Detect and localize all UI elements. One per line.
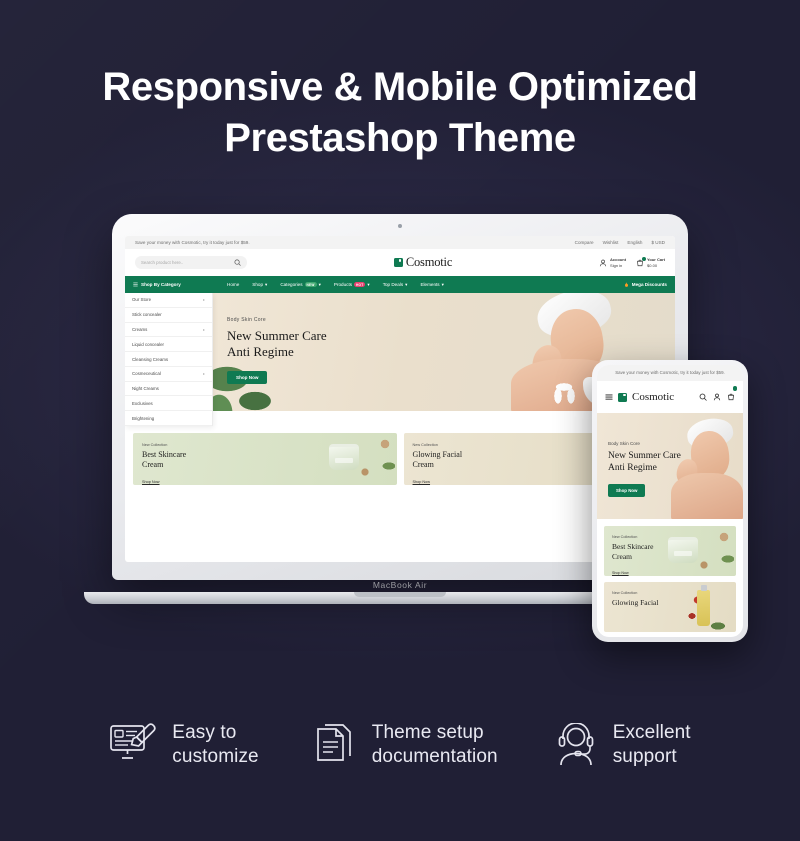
sidebar-item-label: Stick concealer [132,312,162,317]
cart-labels: Your Cart $0.00 [647,257,665,268]
sidebar-item-exclusives[interactable]: Exclusives [125,396,212,411]
headset-support-icon [554,723,598,767]
phone-header-icons [699,388,735,406]
phone-mockup: Save your money with Cosmotic, try it to… [592,360,748,642]
promo-title: Best Skincare Cream [612,542,653,561]
feature-label: Theme setup documentation [372,721,498,770]
logo-mark-icon [394,258,403,267]
cart-button[interactable]: Your Cart $0.00 [636,257,665,268]
chevron-right-icon: ▸ [203,327,205,332]
hero-text-block: Body Skin Core New Summer Care Anti Regi… [227,317,327,384]
feature-label: Easy to customize [172,721,258,770]
shop-by-category-button[interactable]: Shop By Category [133,282,221,287]
shop-by-category-label: Shop By Category [141,282,181,287]
nav-item-products[interactable]: Products HOT ▾ [334,282,370,288]
sidebar-item-label: Our Store [132,297,151,302]
chevron-down-icon: ▾ [319,282,321,288]
promo-title-line-2: Cream [612,552,632,561]
promo-decoration [688,588,734,632]
nav-label: Shop [252,282,263,287]
currency-selector[interactable]: $ USD [651,240,665,245]
phone-hero-title-line-1: New Summer Care [608,451,681,461]
feature-label-line-1: Excellent [613,721,691,745]
promo-text-block: New Collection Glowing Facial Cream Shop… [413,443,463,485]
nav-label: Top Deals [383,282,403,287]
hero-title-line-2: Anti Regime [227,344,294,359]
feature-label-line-1: Easy to [172,721,258,745]
sidebar-item-label: Night Creams [132,386,159,391]
phone-hero-kicker: Body Skin Core [608,441,681,446]
cream-jar-image [329,444,359,470]
language-selector[interactable]: English [627,240,642,245]
chevron-down-icon: ▾ [265,282,267,288]
sidebar-item-night-creams[interactable]: Night Creams [125,382,212,397]
sidebar-item-creams[interactable]: Creams ▸ [125,323,212,338]
sidebar-item-label: Exclusives [132,401,153,406]
sidebar-item-cleansing-creams[interactable]: Cleansing Creams [125,352,212,367]
search-icon[interactable] [234,259,241,266]
search-placeholder: Search product here.. [141,260,183,265]
account-subtitle: Sign in [610,263,622,268]
chevron-right-icon: ▸ [203,371,205,376]
category-sidebar: Our Store ▸ Stick concealer Creams ▸ Liq… [125,293,213,426]
cart-total: $0.00 [647,263,657,268]
sidebar-item-label: Cleansing Creams [132,357,168,362]
phone-hero-title: New Summer Care Anti Regime [608,451,681,475]
search-icon[interactable] [699,393,707,401]
phone-cart-badge [733,386,738,391]
feature-excellent-support: Excellent support [554,721,691,770]
promo-title: Glowing Facial [612,598,658,607]
sidebar-item-stick-concealer[interactable]: Stick concealer [125,308,212,323]
feature-theme-setup-documentation: Theme setup documentation [315,721,498,770]
feature-label-line-2: support [613,745,691,769]
account-button[interactable]: Account Sign in [599,257,626,268]
promo-kicker: New Collection [142,443,186,447]
oil-bottle-image [697,590,710,626]
documents-icon [315,723,357,767]
cart-icon [727,393,735,401]
sidebar-item-liquid-concealer[interactable]: Liquid concealer [125,337,212,352]
sidebar-item-label: Brightening [132,416,154,421]
page-title: Responsive & Mobile Optimized Prestashop… [0,62,800,164]
feature-easy-to-customize: Easy to customize [109,721,258,770]
promo-shop-now-link[interactable]: Shop Now [413,480,431,484]
search-input[interactable]: Search product here.. [135,256,247,269]
cream-jar-image [668,537,698,563]
phone-hero-text-block: Body Skin Core New Summer Care Anti Regi… [608,441,681,497]
sidebar-item-label: Liquid concealer [132,342,164,347]
top-links: Compare Wishlist English $ USD [575,240,665,245]
fire-icon [624,282,629,288]
nav-item-categories[interactable]: Categories NEW ▾ [280,282,321,288]
nav-label: Categories [280,282,302,287]
top-link-compare[interactable]: Compare [575,240,594,245]
announcement-bar: Save your money with Cosmotic, try it to… [125,236,675,249]
sidebar-item-brightening[interactable]: Brightening [125,411,212,426]
cart-icon-wrap [636,259,644,267]
promo-title-line-1: Best Skincare [142,450,186,459]
phone-hero-banner: Body Skin Core New Summer Care Anti Regi… [597,413,743,519]
store-header: Search product here.. Cosmotic [125,249,675,276]
promo-title-line-1: Glowing Facial [413,450,463,459]
user-icon[interactable] [713,393,721,401]
phone-header: Cosmotic [597,381,743,413]
hero-title-line-1: New Summer Care [227,328,327,343]
nav-item-home[interactable]: Home [227,282,239,287]
promo-title: Glowing Facial Cream [413,450,463,470]
nav-label: Home [227,282,239,287]
nav-item-shop[interactable]: Shop ▾ [252,282,267,288]
chevron-right-icon: ▸ [203,297,205,302]
feature-label-line-2: customize [172,745,258,769]
phone-hero-shop-now-button[interactable]: Shop Now [608,484,645,497]
hamburger-icon[interactable] [605,393,613,401]
sidebar-item-cosmeceutical[interactable]: Cosmeceutical ▸ [125,367,212,382]
promo-text-block: New Collection Best Skincare Cream Shop … [142,443,186,485]
cart-count-badge [642,257,647,262]
phone-announcement-bar: Save your money with Cosmotic, try it to… [597,365,743,381]
header-actions: Account Sign in You [599,257,665,268]
main-navigation: Shop By Category Home Shop ▾ Categories … [125,276,675,293]
account-labels: Account Sign in [610,257,626,268]
phone-screen: Save your money with Cosmotic, try it to… [597,365,743,637]
feature-label-line-2: documentation [372,745,498,769]
promo-shop-now-link[interactable]: Shop Now [612,571,629,575]
promo-title-line-1: Glowing Facial [612,598,658,607]
logo-mark-icon [618,393,627,402]
promo-title-line-2: Cream [413,460,434,469]
badge-hot: HOT [354,282,365,287]
promo-text-block: New Collection Glowing Facial [612,591,658,607]
promo-kicker: New Collection [413,443,463,447]
promo-text-block: New Collection Best Skincare Cream Shop … [612,535,653,576]
promo-card-best-skincare[interactable]: New Collection Best Skincare Cream Shop … [133,433,397,485]
phone-promo-card-glowing-facial[interactable]: New Collection Glowing Facial [604,582,736,632]
promo-title-line-1: Best Skincare [612,542,653,551]
top-link-wishlist[interactable]: Wishlist [603,240,619,245]
badge-new: NEW [305,282,317,287]
store-logo[interactable]: Cosmotic [394,255,452,270]
nav-item-elements[interactable]: Elements ▾ [420,282,443,288]
hero-title: New Summer Care Anti Regime [227,328,327,361]
mega-discounts-label: Mega Discounts [632,282,667,287]
nav-item-top-deals[interactable]: Top Deals ▾ [383,282,408,288]
monitor-brush-icon [109,723,157,767]
chevron-down-icon: ▾ [367,282,369,288]
hero-kicker: Body Skin Core [227,317,327,323]
promo-shop-now-link[interactable]: Shop Now [142,480,160,484]
feature-label: Excellent support [613,721,691,770]
promo-kicker: New Collection [612,591,658,595]
promo-title: Best Skincare Cream [142,450,186,470]
phone-cart-button[interactable] [727,388,735,406]
sidebar-item-label: Creams [132,327,147,332]
phone-logo-text: Cosmotic [632,391,674,403]
model-body [671,473,743,519]
sidebar-item-label: Cosmeceutical [132,371,161,376]
promo-kicker: New Collection [612,535,653,539]
laptop-notch [354,592,446,597]
feature-label-line-1: Theme setup [372,721,498,745]
hero-shop-now-button[interactable]: Shop Now [227,371,267,384]
nav-label: Products [334,282,352,287]
headline-line-1: Responsive & Mobile Optimized [102,65,697,109]
logo-text: Cosmotic [406,255,452,270]
mega-discounts-link[interactable]: Mega Discounts [624,282,667,288]
promo-title-line-2: Cream [142,460,163,469]
webcam-icon [398,224,402,228]
feature-row: Easy to customize Theme setup documentat… [0,700,800,790]
user-icon [599,259,607,267]
promo-decoration [692,529,734,575]
phone-header-left: Cosmotic [605,391,674,403]
hamburger-icon [133,282,138,287]
headline-line-2: Prestashop Theme [0,113,800,164]
chevron-down-icon: ▾ [442,282,444,288]
phone-promo-card-best-skincare[interactable]: New Collection Best Skincare Cream Shop … [604,526,736,576]
promo-decoration [353,436,395,482]
flower-decoration [549,379,579,405]
chevron-down-icon: ▾ [405,282,407,288]
nav-label: Elements [420,282,439,287]
phone-promo-cards: New Collection Best Skincare Cream Shop … [597,519,743,632]
announcement-text: Save your money with Cosmotic, try it to… [135,240,250,245]
phone-hero-title-line-2: Anti Regime [608,463,657,473]
nav-links: Home Shop ▾ Categories NEW ▾ Products HO… [227,282,444,288]
sidebar-item-our-store[interactable]: Our Store ▸ [125,293,212,308]
